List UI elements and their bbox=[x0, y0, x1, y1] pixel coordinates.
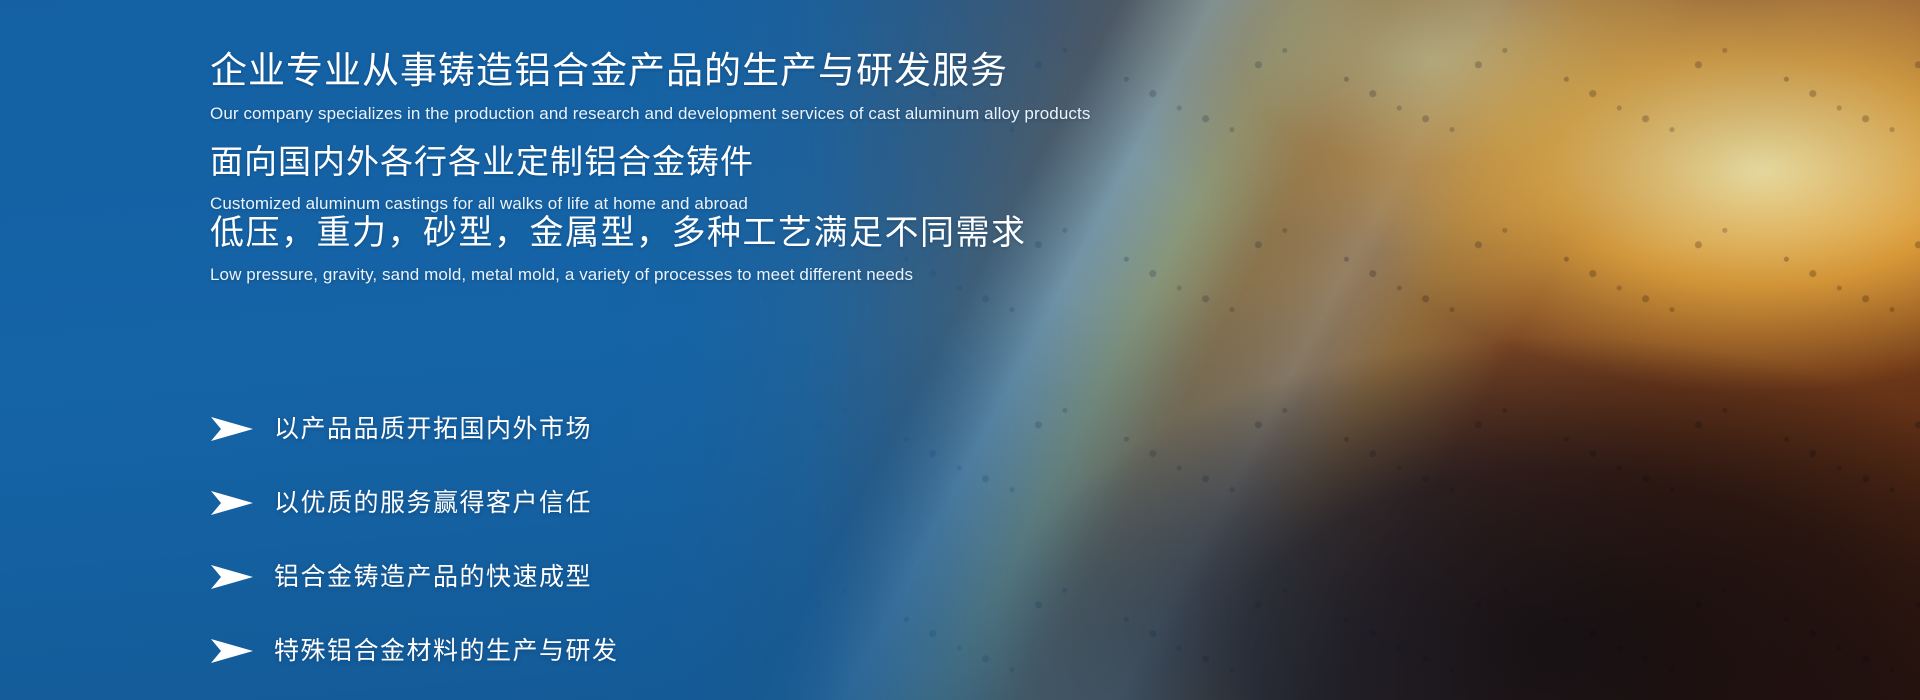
heading-group-1: 企业专业从事铸造铝合金产品的生产与研发服务 Our company specia… bbox=[210, 49, 1090, 125]
heading-1-cn: 企业专业从事铸造铝合金产品的生产与研发服务 bbox=[210, 49, 1090, 93]
arrow-right-icon bbox=[210, 416, 254, 442]
heading-group-2: 面向国内外各行各业定制铝合金铸件 Customized aluminum cas… bbox=[210, 143, 754, 215]
arrow-right-icon bbox=[210, 638, 254, 664]
list-item-label: 铝合金铸造产品的快速成型 bbox=[274, 565, 592, 590]
list-item: 特殊铝合金材料的生产与研发 bbox=[210, 614, 1010, 688]
list-item-label: 特殊铝合金材料的生产与研发 bbox=[274, 639, 619, 664]
heading-2-en: Customized aluminum castings for all wal… bbox=[210, 193, 754, 215]
banner-copy: 企业专业从事铸造铝合金产品的生产与研发服务 Our company specia… bbox=[210, 0, 1410, 700]
heading-2-cn: 面向国内外各行各业定制铝合金铸件 bbox=[210, 143, 754, 182]
list-item: 以优质的服务赢得客户信任 bbox=[210, 466, 1010, 540]
list-item: 铝合金铸造产品的快速成型 bbox=[210, 540, 1010, 614]
arrow-right-icon bbox=[210, 490, 254, 516]
list-item-label: 以产品品质开拓国内外市场 bbox=[274, 417, 592, 442]
hero-banner: 企业专业从事铸造铝合金产品的生产与研发服务 Our company specia… bbox=[0, 0, 1920, 700]
heading-3-cn: 低压，重力，砂型，金属型，多种工艺满足不同需求 bbox=[210, 213, 1027, 253]
heading-group-3: 低压，重力，砂型，金属型，多种工艺满足不同需求 Low pressure, gr… bbox=[210, 213, 1027, 286]
list-item-label: 以优质的服务赢得客户信任 bbox=[274, 491, 592, 516]
arrow-right-icon bbox=[210, 564, 254, 590]
list-item: 以产品品质开拓国内外市场 bbox=[210, 392, 1010, 466]
heading-3-en: Low pressure, gravity, sand mold, metal … bbox=[210, 264, 1027, 286]
heading-1-en: Our company specializes in the productio… bbox=[210, 103, 1090, 125]
feature-list: 以产品品质开拓国内外市场 以优质的服务赢得客户信任 铝合金铸造产品的快速成型 bbox=[210, 392, 1010, 688]
